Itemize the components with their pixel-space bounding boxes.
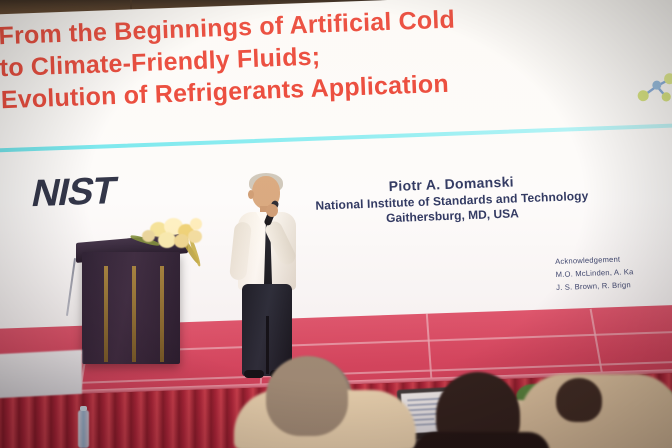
slide-title: From the Beginnings of Artificial Cold t… xyxy=(0,0,621,116)
nist-logo-text: NIST xyxy=(28,170,120,216)
water-bottle xyxy=(78,410,89,448)
bottle-cap xyxy=(80,406,87,411)
molecule-icon xyxy=(630,67,672,113)
audience-head-3 xyxy=(266,356,348,436)
audience-head-5 xyxy=(556,378,602,422)
flower-arrangement xyxy=(128,216,210,276)
presenter-hand xyxy=(266,204,278,217)
presenter-shoe xyxy=(244,370,264,378)
acknowledgement-line-2: J. S. Brown, R. Brign xyxy=(556,279,634,294)
presenter-info: Piotr A. Domanski National Institute of … xyxy=(286,170,618,229)
acknowledgement-block: Acknowledgement M.O. McLinden, A. Ka J. … xyxy=(555,253,634,294)
audience-body xyxy=(414,432,550,448)
presentation-photo: From the Beginnings of Artificial Cold t… xyxy=(0,0,672,448)
nist-logo: NIST xyxy=(32,170,115,216)
presenter-leg-split xyxy=(266,316,269,374)
stage-monitor xyxy=(0,350,82,399)
slide-accent-line-top xyxy=(0,123,672,153)
presenter-ear xyxy=(248,190,254,199)
presenter-figure xyxy=(228,176,306,376)
